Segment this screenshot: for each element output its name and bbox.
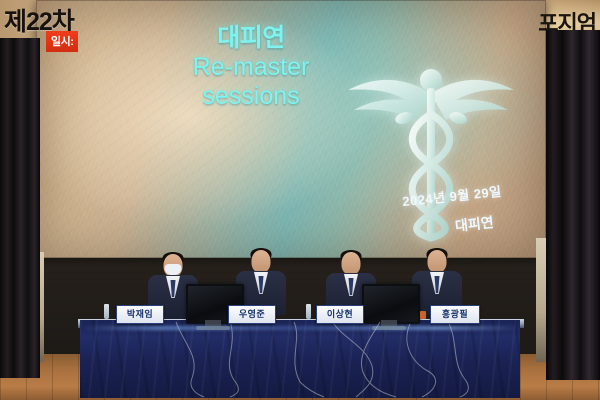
panelist-1-face-mask (165, 264, 182, 275)
conference-photo-scene: 제22차 포지엄 일시: (0, 0, 600, 400)
table-edge-light (80, 326, 520, 330)
water-bottle-1 (104, 304, 109, 319)
panelist-3-head (342, 252, 361, 275)
stage-curtain-left (0, 38, 40, 378)
slide-title-line3: sessions (156, 82, 346, 111)
nameplate-1-text: 박재임 (127, 310, 153, 319)
nameplate-4-text: 홍광필 (442, 310, 468, 319)
slide-title-line2: Re-master (156, 53, 346, 82)
panelist-2-head (252, 250, 271, 273)
projection-screen: 대피연 Re-master sessions 2024년 9월 29일 대피연 (36, 0, 546, 258)
nameplate-2: 우영준 (228, 305, 276, 324)
panel-monitor-2-screen (362, 284, 420, 324)
caduceus-icon (336, 44, 526, 244)
banner-date-label: 일시: (46, 31, 78, 52)
paper-cup (420, 311, 426, 319)
nameplate-4: 홍광필 (430, 305, 480, 324)
panelist-4-head (428, 250, 447, 273)
slide-title: 대피연 Re-master sessions (156, 24, 346, 111)
stage-curtain-right (546, 30, 600, 380)
cable-bundle (80, 320, 520, 398)
nameplate-3-text: 이상현 (327, 310, 353, 319)
nameplate-3: 이상현 (316, 305, 364, 324)
nameplate-1: 박재임 (116, 305, 164, 324)
nameplate-2-text: 우영준 (239, 310, 265, 319)
water-bottle-2 (306, 304, 311, 319)
slide-organization: 대피연 (454, 212, 495, 236)
panel-monitor-2 (362, 284, 416, 320)
slide-title-line1: 대피연 (156, 24, 346, 53)
